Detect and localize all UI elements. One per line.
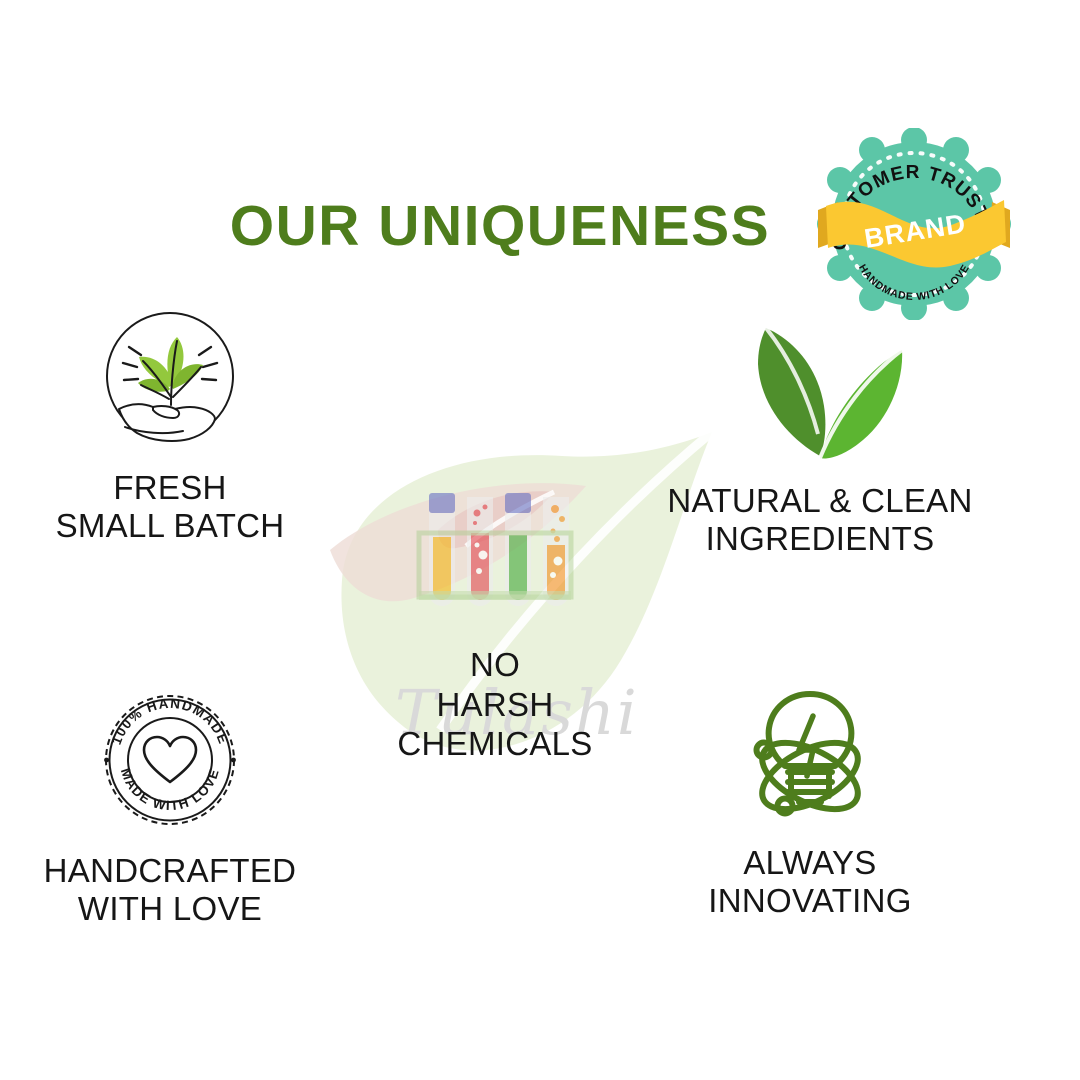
stamp-bottom-text: MADE WITH LOVE — [118, 766, 222, 813]
lightbulb-atom-icon — [640, 680, 980, 830]
hand-holding-sprout-icon — [20, 305, 320, 455]
feature-label: HANDCRAFTED WITH LOVE — [20, 852, 320, 929]
feature-label: FRESH SMALL BATCH — [20, 469, 320, 546]
feature-label: ALWAYS INNOVATING — [640, 844, 980, 921]
feature-handcrafted-with-love: 100% HANDMADE MADE WITH LOVE HANDCRAFTED… — [20, 682, 320, 929]
test-tube-rack-icon — [370, 483, 620, 623]
svg-text:100% HANDMADE: 100% HANDMADE — [109, 696, 232, 747]
customer-trusted-brand-seal: CUSTOMER TRUSTED HANDMADE WITH LOVE BRAN… — [808, 128, 1020, 320]
svg-text:MADE WITH LOVE: MADE WITH LOVE — [118, 766, 222, 813]
uniqueness-infographic: Tulashi OUR UNIQUENESS — [0, 0, 1080, 1080]
feature-no-harsh-chemicals: NO HARSH CHEMICALS — [370, 483, 620, 764]
two-leaves-icon — [655, 318, 985, 468]
feature-natural-clean-ingredients: NATURAL & CLEAN INGREDIENTS — [655, 318, 985, 559]
feature-fresh-small-batch: FRESH SMALL BATCH — [20, 305, 320, 546]
feature-always-innovating: ALWAYS INNOVATING — [640, 680, 980, 921]
handmade-heart-stamp-icon: 100% HANDMADE MADE WITH LOVE — [20, 682, 320, 838]
stamp-top-text: 100% HANDMADE — [109, 696, 232, 747]
feature-label: NO HARSH CHEMICALS — [370, 645, 620, 764]
feature-label: NATURAL & CLEAN INGREDIENTS — [655, 482, 985, 559]
